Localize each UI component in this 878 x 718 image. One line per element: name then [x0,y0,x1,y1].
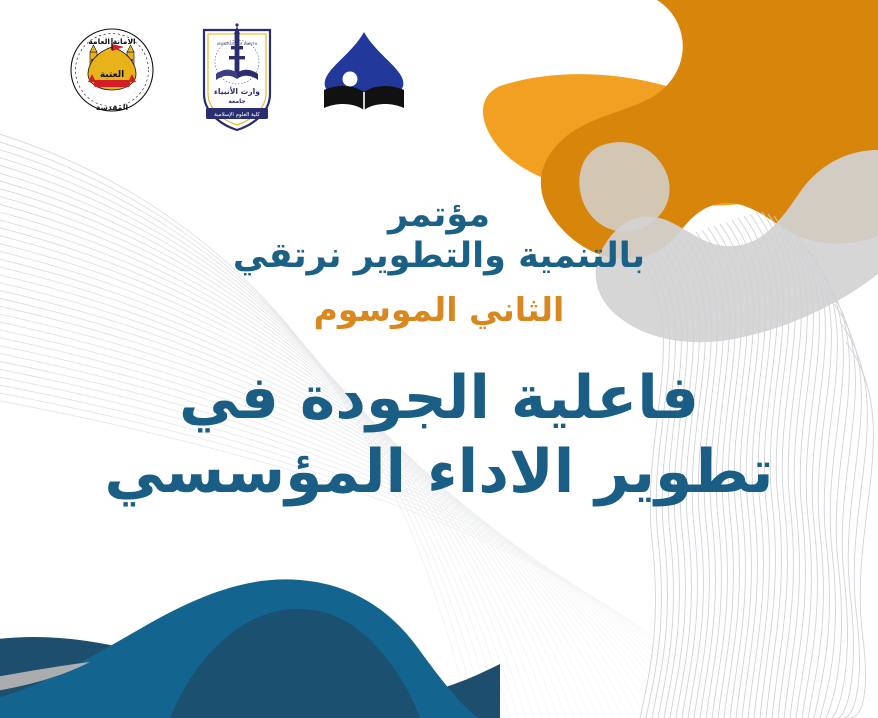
poster-text-block: مؤتمر بالتنمية والتطوير نرتقي الثاني الم… [0,196,878,506]
dome-shape [325,32,404,92]
logo-warith-al-anbiyaa-university: UNIVERSITY OF WARITH وارث الأنبياء جامعة… [198,22,276,134]
logo-bar: الامانة العامة [0,22,878,142]
college-banner-label: كلية العلوم الإسلامية [214,111,260,118]
dome-circle [343,72,358,87]
shrine-center-text-label: العتبة [100,70,124,80]
title-line-1: فاعلية الجودة في [0,365,878,432]
title-line-2: تطوير الاداء المؤسسي [0,439,878,506]
kicker-line-2: بالتنمية والتطوير نرتقي [0,237,878,276]
logo-dome-and-book [320,28,408,112]
university-ring-text-label: UNIVERSITY OF WARITH [217,42,258,46]
shrine-bottom-text-label: المقدسة [96,103,128,112]
university-arabic-word-label: جامعة [228,98,245,105]
logo-al-abbas-holy-shrine: الامانة العامة [66,22,158,122]
university-arabic-name-label: وارث الأنبياء [214,86,260,96]
conference-poster: الامانة العامة [0,0,878,718]
kicker-line-1: مؤتمر [0,196,878,235]
kicker-line-3: الثاني الموسوم [0,292,878,329]
